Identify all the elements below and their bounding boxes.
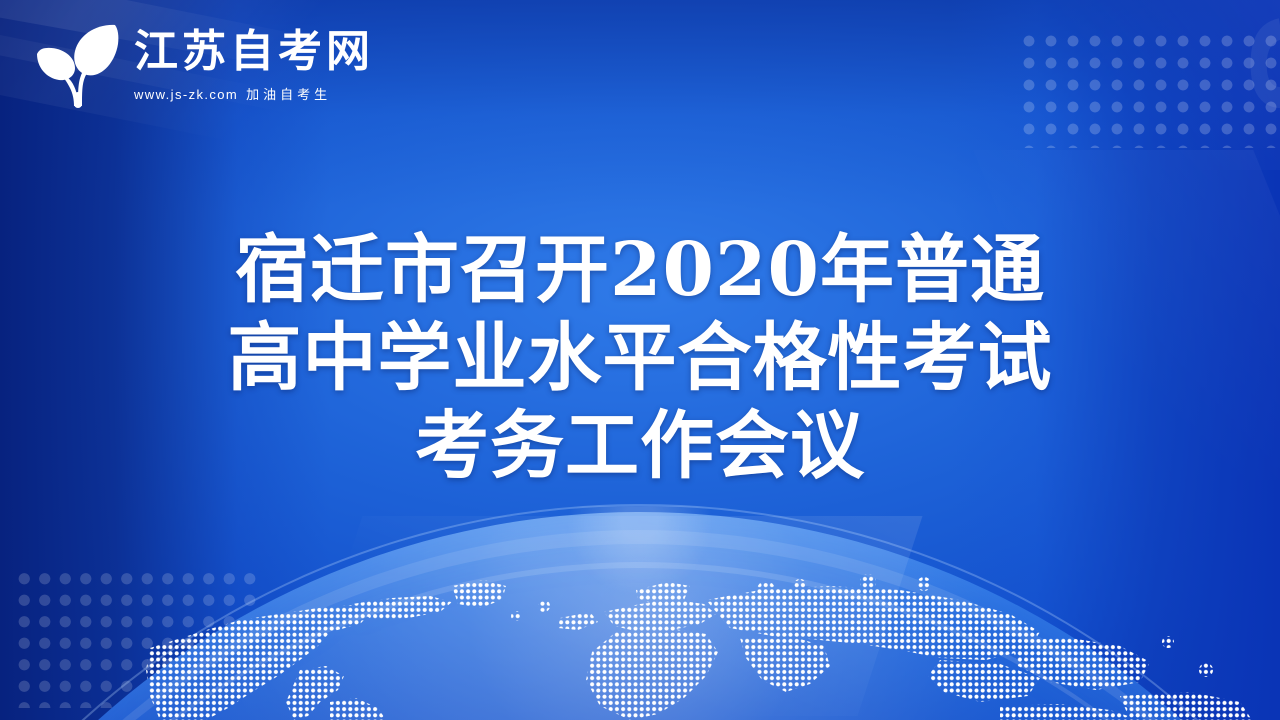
logo-title: 江苏自考网 bbox=[134, 29, 374, 75]
globe-graphic bbox=[0, 490, 1280, 720]
site-logo[interactable]: 江苏自考网 www.js-zk.com加油自考生 bbox=[34, 18, 374, 110]
sprout-leaf-icon bbox=[34, 18, 122, 110]
globe-shine bbox=[298, 516, 923, 716]
logo-url: www.js-zk.com bbox=[134, 87, 238, 102]
headline-line-2: 高中学业水平合格性考试 bbox=[150, 314, 1130, 402]
dot-grid-top-right bbox=[1018, 30, 1280, 148]
news-banner: NEWS NEWS bbox=[0, 0, 1280, 720]
logo-slogan: 加油自考生 bbox=[246, 87, 331, 102]
news-watermark-right: NEWS bbox=[1217, 0, 1280, 120]
logo-subtitle: www.js-zk.com加油自考生 bbox=[134, 84, 374, 103]
headline: 宿迁市召开2020年普通 高中学业水平合格性考试 考务工作会议 bbox=[0, 226, 1280, 490]
logo-text-block: 江苏自考网 www.js-zk.com加油自考生 bbox=[134, 25, 374, 103]
diagonal-ribbon-4 bbox=[959, 0, 1280, 170]
headline-line-1: 宿迁市召开2020年普通 bbox=[150, 226, 1130, 314]
headline-line-3: 考务工作会议 bbox=[150, 402, 1130, 490]
